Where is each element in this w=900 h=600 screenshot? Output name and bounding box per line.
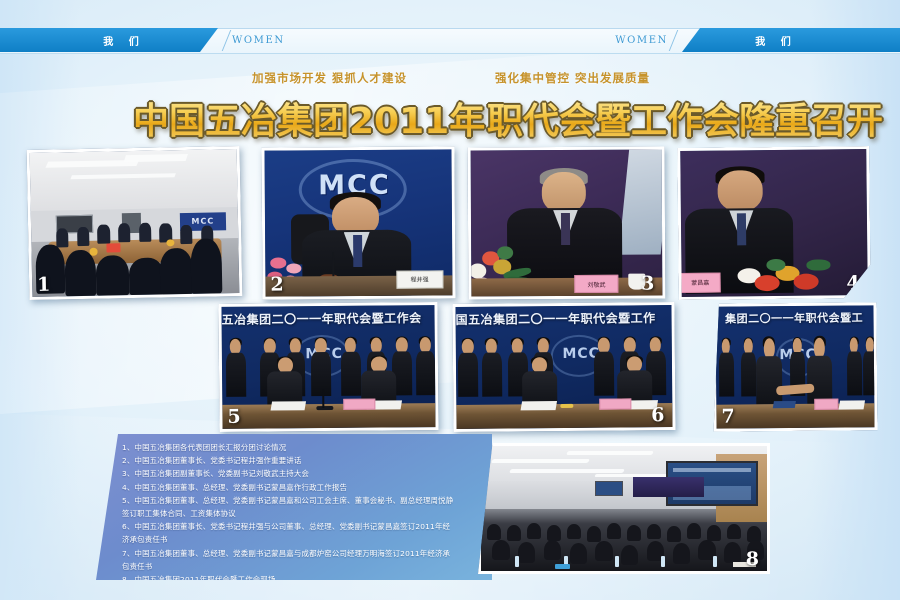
photo-5-number: 5 bbox=[227, 406, 240, 428]
photo-2-nameplate: 程井强 bbox=[396, 270, 443, 288]
photo-3[interactable]: 刘敬武 3 bbox=[468, 146, 666, 299]
photo-7[interactable]: 集团二〇一一年职代会暨工 MCC 7 bbox=[712, 302, 877, 431]
photo-8[interactable]: 8 bbox=[478, 443, 770, 574]
photo-1[interactable]: MCC 1 bbox=[27, 146, 243, 300]
caption-line: 1、中国五冶集团各代表团团长汇报分团讨论情况 bbox=[122, 441, 482, 454]
photo-6-scene: 国五冶集团二〇一一年职代会暨工作 MCC bbox=[455, 305, 672, 429]
page-title-left: 中国五冶集团2011年 bbox=[133, 92, 485, 144]
header-tab-right-label: 我 们 bbox=[755, 33, 796, 48]
caption-line: 济承包责任书 bbox=[122, 533, 482, 546]
photo-3-number: 3 bbox=[641, 273, 654, 295]
page-header-banner: 我 们 WOMEN WOMEN 我 们 bbox=[0, 28, 900, 52]
header-tab-left[interactable]: 我 们 bbox=[0, 28, 218, 52]
photo-2-scene: MCC 程井强 bbox=[264, 149, 452, 296]
photo-4-scene: 蒙昌嘉 bbox=[680, 149, 868, 297]
photo-2-number: 2 bbox=[270, 274, 283, 296]
photo-1-number: 1 bbox=[37, 274, 51, 296]
photo-8-scene bbox=[481, 446, 767, 571]
header-tab-left-label: 我 们 bbox=[103, 33, 144, 48]
photo-8-audience bbox=[481, 511, 767, 571]
caption-line: 包责任书 bbox=[122, 560, 482, 573]
caption-line: 8、中国五冶集团2011年职代会暨工作会现场 bbox=[122, 573, 482, 586]
photo-4[interactable]: 蒙昌嘉 4 bbox=[677, 146, 871, 300]
photo-5[interactable]: 五冶集团二〇一一年职代会暨工作会 MCC 5 bbox=[218, 302, 438, 432]
photo-7-number: 7 bbox=[721, 406, 734, 428]
photo-3-scene: 刘敬武 bbox=[471, 150, 663, 297]
page-title-right: 职代会暨工作会隆重召开 bbox=[487, 92, 883, 144]
photo-4-nameplate: 蒙昌嘉 bbox=[680, 273, 721, 293]
magazine-page: 我 们 WOMEN WOMEN 我 们 加强市场开发 狠抓人才建设 强化集中管控… bbox=[0, 0, 900, 600]
photo-4-flowers bbox=[737, 249, 834, 300]
caption-line: 5、中国五冶集团董事、总经理、党委副书记蒙昌嘉和公司工会主席、董事会秘书、副总经… bbox=[122, 494, 482, 507]
caption-line: 6、中国五冶集团董事长、党委书记程井强与公司董事、总经理、党委副书记蒙昌嘉签订2… bbox=[122, 520, 482, 533]
subtitle-left: 加强市场开发 狠抓人才建设 bbox=[252, 70, 407, 86]
photo-5-scene: 五冶集团二〇一一年职代会暨工作会 MCC bbox=[221, 305, 435, 429]
subtitle-row: 加强市场开发 狠抓人才建设 强化集中管控 突出发展质量 bbox=[0, 70, 900, 88]
photo-1-scene: MCC bbox=[30, 149, 240, 297]
caption-panel: 1、中国五冶集团各代表团团长汇报分团讨论情况 2、中国五冶集团董事长、党委书记程… bbox=[96, 434, 492, 580]
photo-7-banner-text: 集团二〇一一年职代会暨工 bbox=[715, 308, 877, 329]
caption-line: 7、中国五冶集团董事、总经理、党委副书记蒙昌嘉与成都炉窑公司经理万明海签订201… bbox=[122, 547, 482, 560]
photo-6[interactable]: 国五冶集团二〇一一年职代会暨工作 MCC 6 bbox=[452, 302, 675, 432]
photo-3-nameplate: 刘敬武 bbox=[574, 275, 618, 293]
photo-6-number: 6 bbox=[651, 404, 664, 426]
photo-8-number: 8 bbox=[746, 548, 759, 570]
page-title: 中国五冶集团2011年 职代会暨工作会隆重召开 bbox=[0, 92, 900, 138]
photo-7-scene: 集团二〇一一年职代会暨工 MCC bbox=[715, 305, 874, 428]
header-en-left: WOMEN bbox=[232, 28, 285, 52]
caption-line: 签订职工集体合同、工资集体协议 bbox=[122, 507, 482, 520]
photo-6-banner-text: 国五冶集团二〇一一年职代会暨工作 bbox=[455, 307, 671, 328]
subtitle-right: 强化集中管控 突出发展质量 bbox=[495, 70, 650, 86]
photo-2[interactable]: MCC 程井强 2 bbox=[261, 146, 455, 299]
caption-line: 4、中国五冶集团董事、总经理、党委副书记蒙昌嘉作行政工作报告 bbox=[122, 481, 482, 494]
background-right-gradient bbox=[810, 0, 900, 600]
photo-5-banner-text: 五冶集团二〇一一年职代会暨工作会 bbox=[221, 308, 434, 329]
caption-line: 3、中国五冶集团副董事长、党委副书记刘敬武主持大会 bbox=[122, 467, 482, 480]
header-en-right: WOMEN bbox=[615, 28, 668, 52]
header-tab-right[interactable]: 我 们 bbox=[682, 28, 900, 52]
background-left-gradient bbox=[0, 0, 80, 600]
caption-line: 2、中国五冶集团董事长、党委书记程井强作重要讲话 bbox=[122, 454, 482, 467]
